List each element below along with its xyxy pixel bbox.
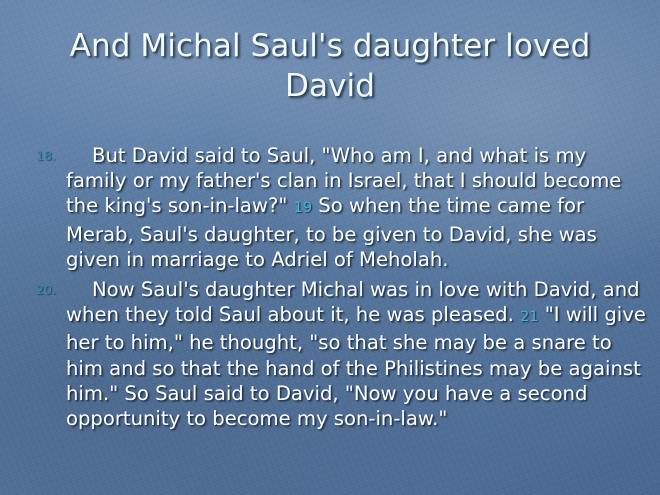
- inline-verse-number: 21: [520, 309, 538, 325]
- slide-body: 18.But David said to Saul, "Who am I, an…: [30, 143, 648, 436]
- verse-paragraph: 20.Now Saul's daughter Michal was in lov…: [30, 277, 648, 431]
- slide-content: And Michal Saul's daughter loved David 1…: [0, 0, 660, 495]
- inline-verse-number: 19: [294, 200, 312, 216]
- verse-paragraph: 18.But David said to Saul, "Who am I, an…: [30, 143, 648, 272]
- page-title: And Michal Saul's daughter loved David: [28, 26, 632, 106]
- verse-number-marker: 20.: [36, 283, 64, 297]
- presentation-slide: And Michal Saul's daughter loved David 1…: [0, 0, 660, 495]
- verse-number-marker: 18.: [36, 149, 64, 163]
